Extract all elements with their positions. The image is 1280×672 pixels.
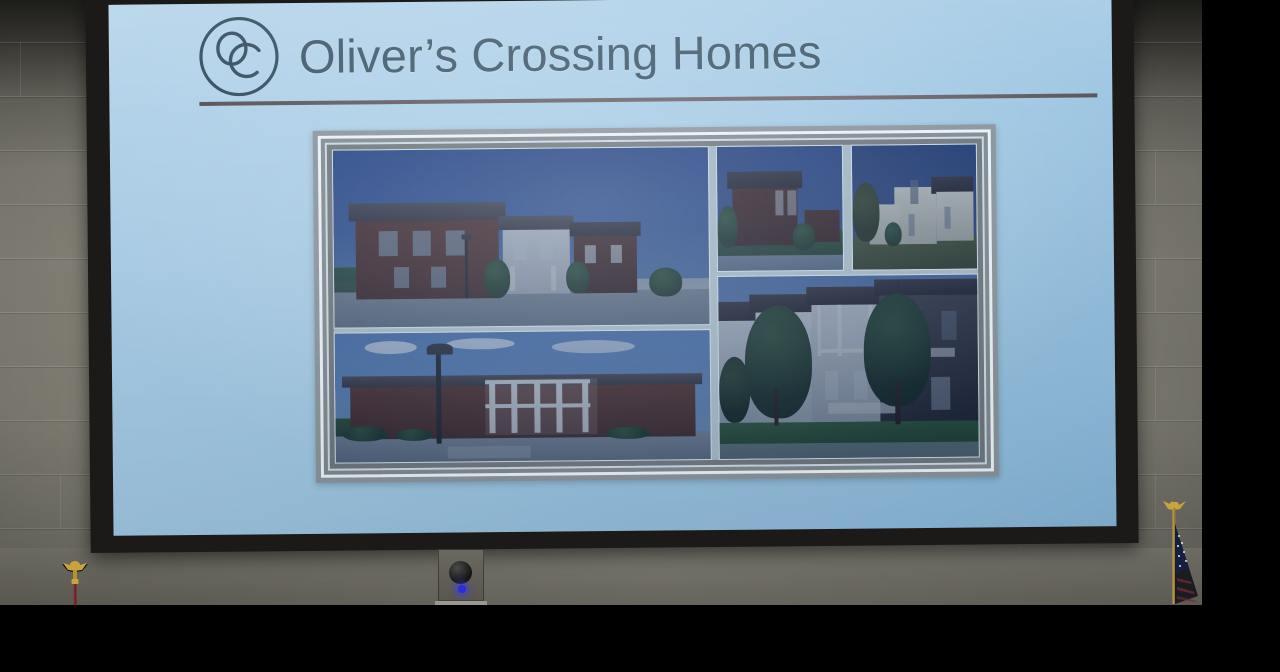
video-content-area: Oliver’s Crossing Homes xyxy=(0,0,1202,605)
page-title: Oliver’s Crossing Homes xyxy=(299,27,822,79)
eagle-finial-icon xyxy=(55,558,95,605)
presentation-slide: Oliver’s Crossing Homes xyxy=(108,0,1116,536)
collage-photo-bottom-right xyxy=(717,273,979,459)
collage-photo-bottom-left xyxy=(334,329,712,463)
slide-header: Oliver’s Crossing Homes xyxy=(197,6,1073,100)
letterbox-bar-bottom xyxy=(0,605,1280,672)
letterbox-bar-right xyxy=(1202,0,1280,672)
american-flag xyxy=(1148,488,1202,605)
video-frame: Oliver’s Crossing Homes xyxy=(0,0,1280,672)
photo-collage xyxy=(313,124,999,483)
camera-lens-icon xyxy=(449,561,472,584)
projection-screen-frame: Oliver’s Crossing Homes xyxy=(85,0,1138,553)
camera-status-led xyxy=(458,585,466,593)
oc-monogram-logo-icon xyxy=(197,14,282,99)
collage-photo-top-right xyxy=(850,143,978,270)
collage-photo-top-middle xyxy=(716,145,844,272)
collage-photo-top-left xyxy=(332,146,710,329)
wall-camera xyxy=(438,549,484,601)
projection-screen-surface: Oliver’s Crossing Homes xyxy=(108,0,1116,536)
